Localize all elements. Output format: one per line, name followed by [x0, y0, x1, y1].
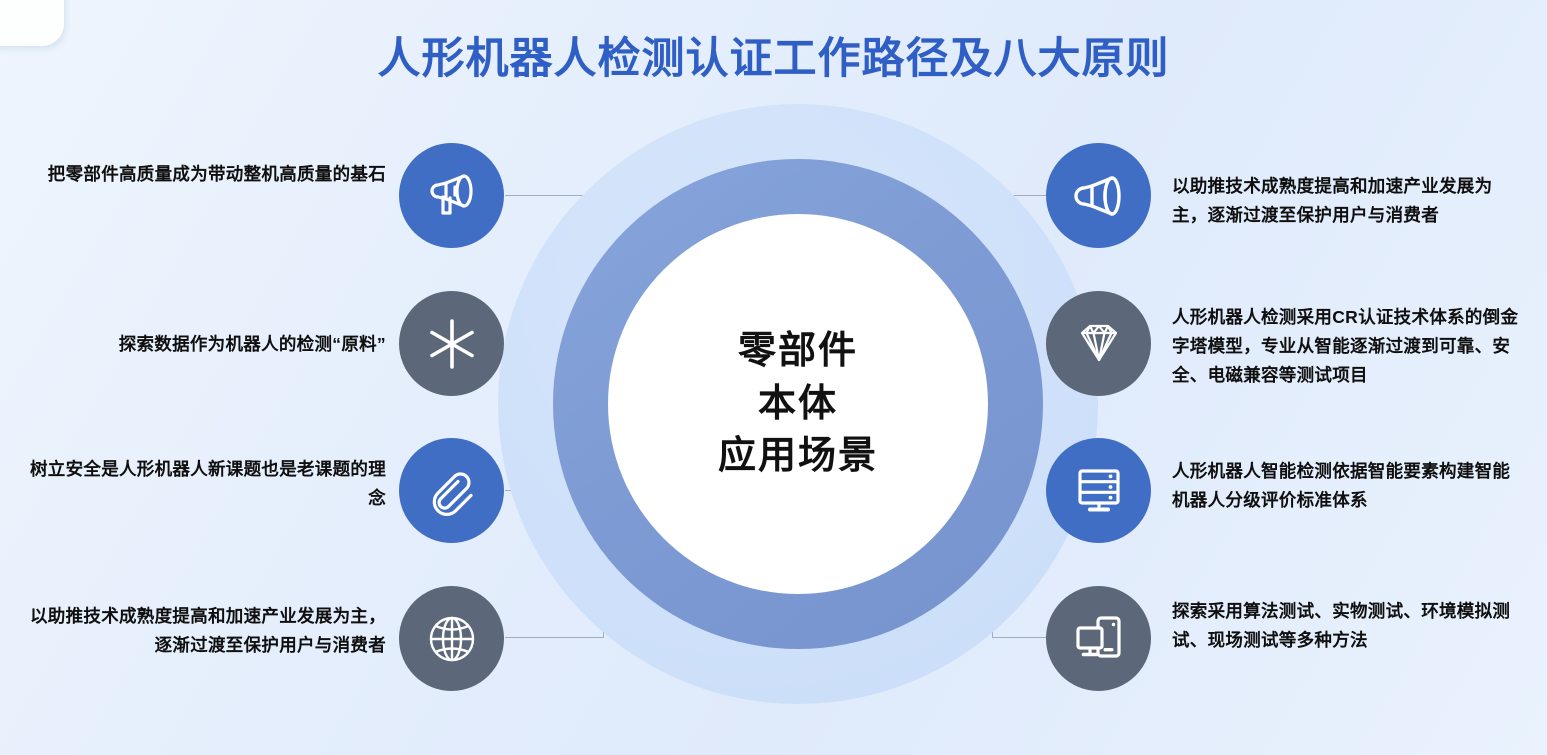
left-item-label-1: 把零部件高质量成为带动整机高质量的基石: [14, 160, 386, 189]
left-item-label-3: 树立安全是人形机器人新课题也是老课题的理念: [14, 455, 386, 513]
right-item-label-1: 以助推技术成熟度提高和加速产业发展为主，逐渐过渡至保护用户与消费者: [1172, 172, 1522, 230]
devices-icon: [1070, 610, 1128, 668]
diamond-icon: [1070, 315, 1128, 373]
slide-canvas: 人形机器人检测认证工作路径及八大原则 零部件 本体 应用场景: [0, 0, 1547, 755]
left-item-label-4: 以助推技术成熟度提高和加速产业发展为主，逐渐过渡至保护用户与消费者: [14, 602, 386, 660]
center-line-1: 零部件: [738, 325, 858, 377]
icon-circle-diamond[interactable]: [1046, 291, 1151, 396]
icon-circle-megaphone[interactable]: [399, 143, 504, 248]
icon-circle-speaker[interactable]: [1046, 143, 1151, 248]
icon-circle-globe[interactable]: [399, 586, 504, 691]
right-item-label-2: 人形机器人检测采用CR认证技术体系的倒金字塔模型，专业从智能逐渐过渡到可靠、安全…: [1172, 303, 1522, 390]
globe-icon: [425, 612, 479, 666]
icon-circle-server[interactable]: [1046, 438, 1151, 543]
paperclip-icon: [423, 462, 481, 520]
page-title: 人形机器人检测认证工作路径及八大原则: [0, 24, 1547, 86]
server-icon: [1070, 462, 1128, 520]
center-line-2: 本体: [758, 378, 838, 430]
icon-circle-paperclip[interactable]: [399, 438, 504, 543]
right-item-label-3: 人形机器人智能检测依据智能要素构建智能机器人分级评价标准体系: [1172, 457, 1522, 515]
icon-circle-devices[interactable]: [1046, 586, 1151, 691]
asterisk-icon: [423, 315, 481, 373]
megaphone-icon: [424, 168, 480, 224]
center-line-3: 应用场景: [718, 430, 878, 482]
right-item-label-4: 探索采用算法测试、实物测试、环境模拟测试、现场测试等多种方法: [1172, 597, 1522, 655]
left-item-label-2: 探索数据作为机器人的检测“原料”: [14, 330, 386, 359]
speaker-icon: [1070, 167, 1128, 225]
icon-circle-asterisk[interactable]: [399, 291, 504, 396]
center-hub: 零部件 本体 应用场景: [608, 214, 988, 594]
